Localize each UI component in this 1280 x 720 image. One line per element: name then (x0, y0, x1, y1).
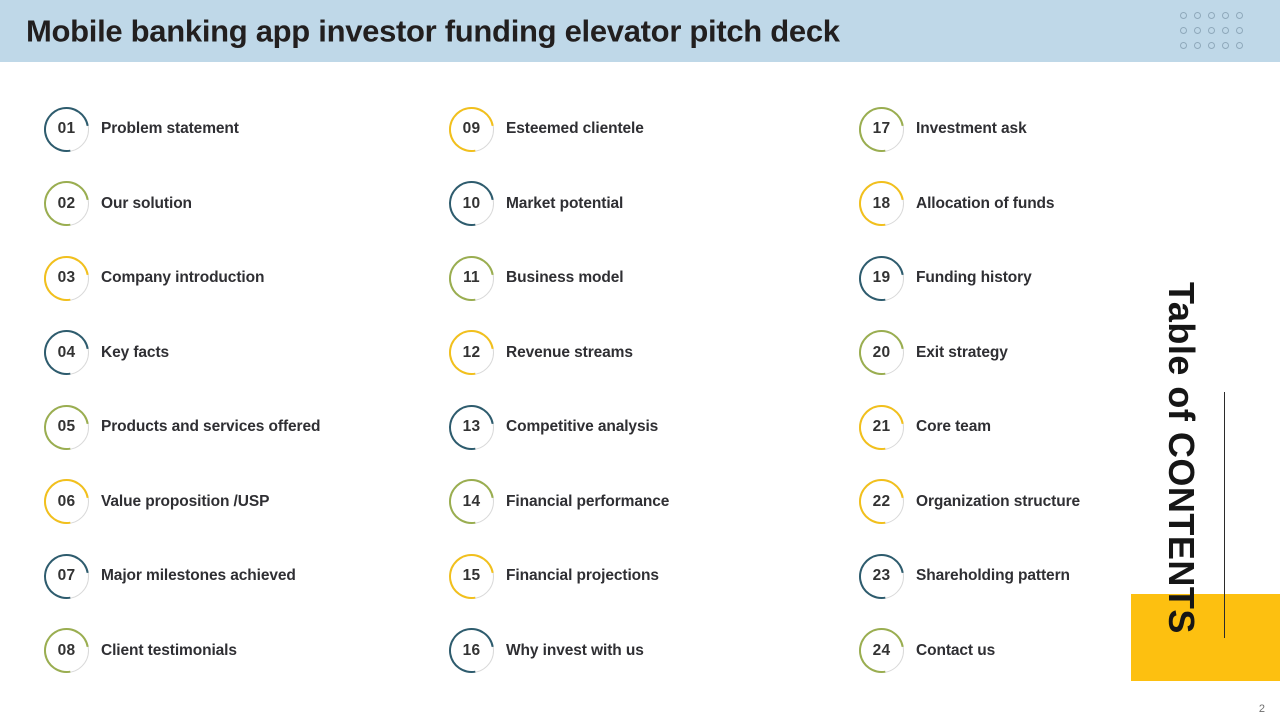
toc-item-number: 16 (463, 642, 481, 660)
toc-item-number: 17 (873, 120, 891, 138)
toc-item-number-ring: 01 (44, 107, 89, 152)
toc-item-label: Financial projections (506, 567, 659, 585)
toc-item[interactable]: 04Key facts (44, 328, 444, 378)
toc-item[interactable]: 08Client testimonials (44, 626, 444, 676)
toc-column-3: 17Investment ask18Allocation of funds19F… (859, 104, 1189, 676)
side-label-text: Table of CONTENTS (1163, 282, 1199, 634)
toc-item-number: 19 (873, 269, 891, 287)
side-label-part-2: CONTENTS (1161, 432, 1202, 634)
toc-item-label: Our solution (101, 195, 192, 213)
toc-item-number-ring: 24 (859, 628, 904, 673)
slide-header-band: Mobile banking app investor funding elev… (0, 0, 1280, 62)
dot-grid-decoration-icon (1176, 8, 1246, 53)
toc-item-label: Allocation of funds (916, 195, 1054, 213)
toc-item-label: Financial performance (506, 493, 669, 511)
toc-item-number-ring: 11 (449, 256, 494, 301)
toc-item[interactable]: 11Business model (449, 253, 849, 303)
toc-item-number-ring: 15 (449, 554, 494, 599)
toc-item-number: 15 (463, 567, 481, 585)
toc-item-number-ring: 21 (859, 405, 904, 450)
toc-item[interactable]: 06Value proposition /USP (44, 477, 444, 527)
toc-item-label: Esteemed clientele (506, 120, 644, 138)
toc-item-number: 13 (463, 418, 481, 436)
toc-item-number-ring: 14 (449, 479, 494, 524)
toc-item-label: Organization structure (916, 493, 1080, 511)
toc-item-number: 01 (58, 120, 76, 138)
toc-item-label: Funding history (916, 269, 1032, 287)
toc-item-label: Core team (916, 418, 991, 436)
table-of-contents: 01Problem statement02Our solution03Compa… (0, 62, 1280, 720)
toc-item-number-ring: 16 (449, 628, 494, 673)
toc-column-2: 09Esteemed clientele10Market potential11… (449, 104, 849, 676)
toc-item[interactable]: 01Problem statement (44, 104, 444, 154)
toc-item-number-ring: 13 (449, 405, 494, 450)
toc-item-label: Investment ask (916, 120, 1027, 138)
toc-item-label: Client testimonials (101, 642, 237, 660)
toc-item[interactable]: 07Major milestones achieved (44, 551, 444, 601)
toc-item-number-ring: 08 (44, 628, 89, 673)
toc-item-number: 11 (463, 269, 480, 287)
toc-item-number: 05 (58, 418, 76, 436)
toc-item-number-ring: 18 (859, 181, 904, 226)
toc-item-number: 06 (58, 493, 76, 511)
toc-item-label: Products and services offered (101, 418, 320, 436)
toc-item-number: 07 (58, 567, 76, 585)
toc-item-label: Key facts (101, 344, 169, 362)
toc-item-number-ring: 17 (859, 107, 904, 152)
toc-item-number: 24 (873, 642, 891, 660)
toc-item-number: 18 (873, 195, 891, 213)
toc-item-label: Value proposition /USP (101, 493, 269, 511)
toc-item-number-ring: 03 (44, 256, 89, 301)
toc-item-number: 22 (873, 493, 891, 511)
toc-item[interactable]: 17Investment ask (859, 104, 1189, 154)
toc-item-label: Market potential (506, 195, 623, 213)
toc-item-number: 08 (58, 642, 76, 660)
toc-item-number: 23 (873, 567, 891, 585)
toc-item-label: Company introduction (101, 269, 264, 287)
toc-item-label: Shareholding pattern (916, 567, 1070, 585)
toc-item-number-ring: 23 (859, 554, 904, 599)
side-label: Table of CONTENTS (1155, 282, 1207, 682)
toc-item[interactable]: 13Competitive analysis (449, 402, 849, 452)
toc-item[interactable]: 16Why invest with us (449, 626, 849, 676)
toc-item-number: 09 (463, 120, 481, 138)
toc-item[interactable]: 19Funding history (859, 253, 1189, 303)
toc-item-number-ring: 22 (859, 479, 904, 524)
toc-item-number-ring: 04 (44, 330, 89, 375)
side-label-part-1: Table of (1161, 282, 1202, 432)
page-title: Mobile banking app investor funding elev… (26, 16, 840, 47)
toc-column-1: 01Problem statement02Our solution03Compa… (44, 104, 444, 676)
toc-item[interactable]: 05Products and services offered (44, 402, 444, 452)
toc-item[interactable]: 09Esteemed clientele (449, 104, 849, 154)
toc-item-number: 14 (463, 493, 481, 511)
toc-item-number-ring: 10 (449, 181, 494, 226)
toc-item-number-ring: 19 (859, 256, 904, 301)
toc-item-number: 10 (463, 195, 481, 213)
toc-item-number: 21 (873, 418, 891, 436)
toc-item-number: 20 (873, 344, 891, 362)
toc-item-label: Revenue streams (506, 344, 633, 362)
toc-item-number: 12 (463, 344, 481, 362)
toc-item-label: Competitive analysis (506, 418, 658, 436)
toc-item-number-ring: 06 (44, 479, 89, 524)
toc-item-number-ring: 02 (44, 181, 89, 226)
toc-item[interactable]: 21Core team (859, 402, 1189, 452)
toc-item-number: 02 (58, 195, 76, 213)
toc-item-number-ring: 05 (44, 405, 89, 450)
toc-item-label: Problem statement (101, 120, 239, 138)
page-number: 2 (1259, 703, 1265, 715)
toc-item-label: Major milestones achieved (101, 567, 296, 585)
toc-item-number-ring: 09 (449, 107, 494, 152)
toc-item-label: Contact us (916, 642, 995, 660)
toc-item-number: 04 (58, 344, 76, 362)
toc-item-label: Why invest with us (506, 642, 644, 660)
toc-item-number-ring: 07 (44, 554, 89, 599)
toc-item-label: Exit strategy (916, 344, 1008, 362)
toc-item[interactable]: 15Financial projections (449, 551, 849, 601)
toc-item[interactable]: 12Revenue streams (449, 328, 849, 378)
toc-item-number-ring: 20 (859, 330, 904, 375)
toc-item[interactable]: 22Organization structure (859, 477, 1189, 527)
toc-item[interactable]: 03Company introduction (44, 253, 444, 303)
toc-item-label: Business model (506, 269, 623, 287)
toc-item[interactable]: 14Financial performance (449, 477, 849, 527)
toc-item[interactable]: 20Exit strategy (859, 328, 1189, 378)
toc-item[interactable]: 10Market potential (449, 179, 849, 229)
toc-item-number-ring: 12 (449, 330, 494, 375)
vertical-divider (1224, 392, 1225, 638)
toc-item[interactable]: 18Allocation of funds (859, 179, 1189, 229)
toc-item-number: 03 (58, 269, 76, 287)
toc-item[interactable]: 02Our solution (44, 179, 444, 229)
